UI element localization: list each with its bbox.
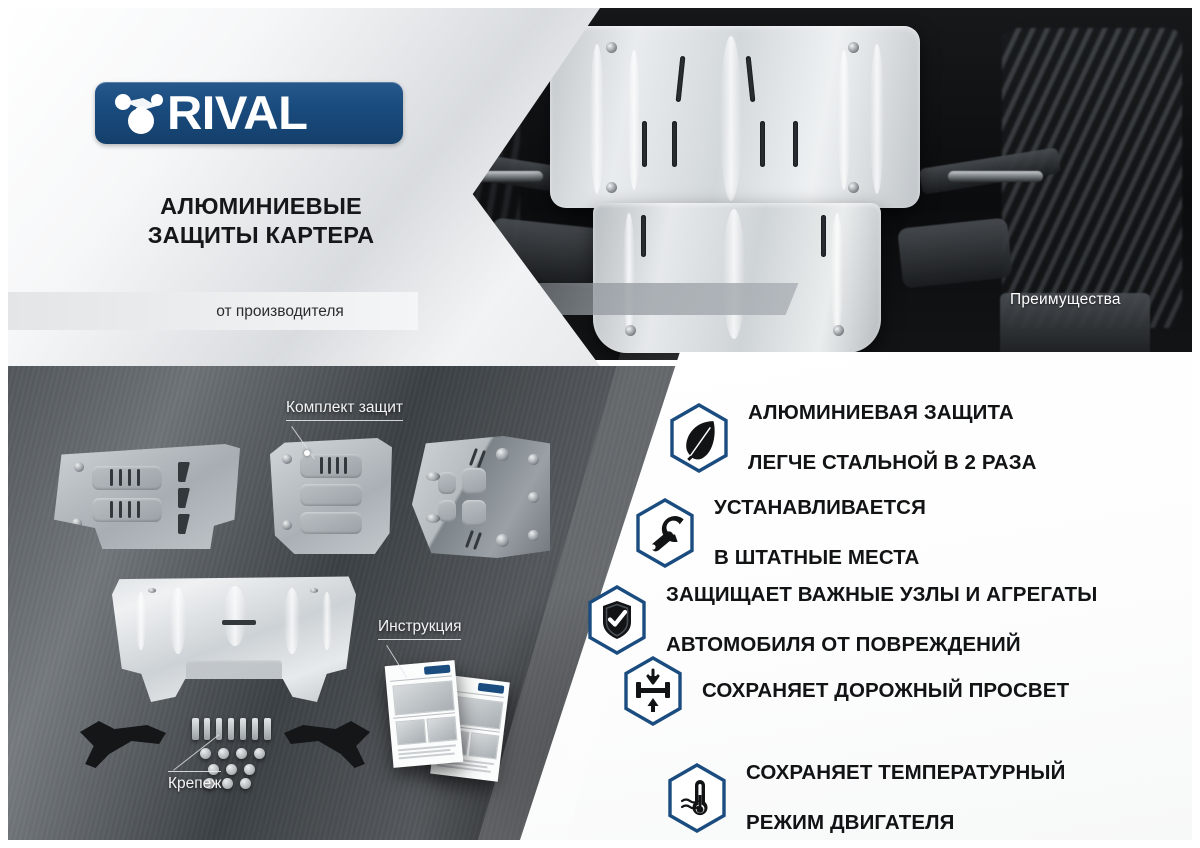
advantages-caption: Преимущества [1010, 288, 1190, 312]
skid-plate-part-2 [270, 438, 392, 554]
instruction-sheet-front [385, 660, 464, 768]
callout-instruction: Инструкция [378, 618, 461, 640]
advantage-text-4-line1: СОХРАНЯЕТ ДОРОЖНЫЙ ПРОСВЕТ [702, 678, 1069, 703]
advantage-text-5: СОХРАНЯЕТ ТЕМПЕРАТУРНЫЙ РЕЖИМ ДВИГАТЕЛЯ [746, 735, 1065, 848]
subframe-right [897, 217, 1013, 288]
advantage-text-4: СОХРАНЯЕТ ДОРОЖНЫЙ ПРОСВЕТ [702, 653, 1069, 728]
callout-kit: Комплект защит [286, 399, 403, 421]
advantage-icon-1 [668, 403, 730, 473]
advantage-text-5-line2: РЕЖИМ ДВИГАТЕЛЯ [746, 810, 1065, 835]
advantage-icon-3 [586, 585, 648, 655]
advantage-text-1-line1: АЛЮМИНИЕВАЯ ЗАЩИТА [748, 400, 1037, 425]
callout-instruction-label: Инструкция [378, 618, 461, 635]
installed-skid-plate-lower [593, 203, 881, 353]
installed-skid-plate-upper [550, 26, 920, 208]
callout-hardware-label: Крепеж [168, 775, 221, 792]
advantage-text-2-line1: УСТАНАВЛИВАЕТСЯ [714, 495, 926, 520]
advantage-item-4: СОХРАНЯЕТ ДОРОЖНЫЙ ПРОСВЕТ [622, 653, 1192, 728]
banner-canvas: Преимущества [0, 0, 1200, 848]
hero-subtitle: от производителя [150, 302, 410, 322]
callout-kit-underline [286, 420, 403, 421]
callout-hardware: Крепеж [168, 771, 221, 793]
page-title: АЛЮМИНИЕВЫЕ ЗАЩИТЫ КАРТЕРА [96, 192, 426, 250]
rival-logo-text: RIVAL [167, 86, 307, 140]
callout-instruction-underline [378, 639, 461, 640]
advantage-text-3-line1: ЗАЩИЩАЕТ ВАЖНЫЕ УЗЛЫ И АГРЕГАТЫ [666, 582, 1097, 607]
page-title-line2: ЗАЩИТЫ КАРТЕРА [96, 221, 426, 250]
advantage-item-5: СОХРАНЯЕТ ТЕМПЕРАТУРНЫЙ РЕЖИМ ДВИГАТЕЛЯ [666, 735, 1186, 848]
molecule-icon [113, 90, 169, 136]
page-title-line1: АЛЮМИНИЕВЫЕ [96, 192, 426, 221]
tie-rod-right [948, 171, 1043, 182]
callout-kit-dot [304, 450, 310, 456]
advantage-icon-5 [666, 763, 728, 833]
advantage-text-5-line1: СОХРАНЯЕТ ТЕМПЕРАТУРНЫЙ [746, 760, 1065, 785]
advantage-icon-4 [622, 656, 684, 726]
rival-logo: RIVAL [95, 82, 403, 144]
callout-kit-label: Комплект защит [286, 399, 403, 416]
callout-hardware-overline [168, 771, 221, 772]
skid-plate-part-3 [412, 436, 550, 558]
